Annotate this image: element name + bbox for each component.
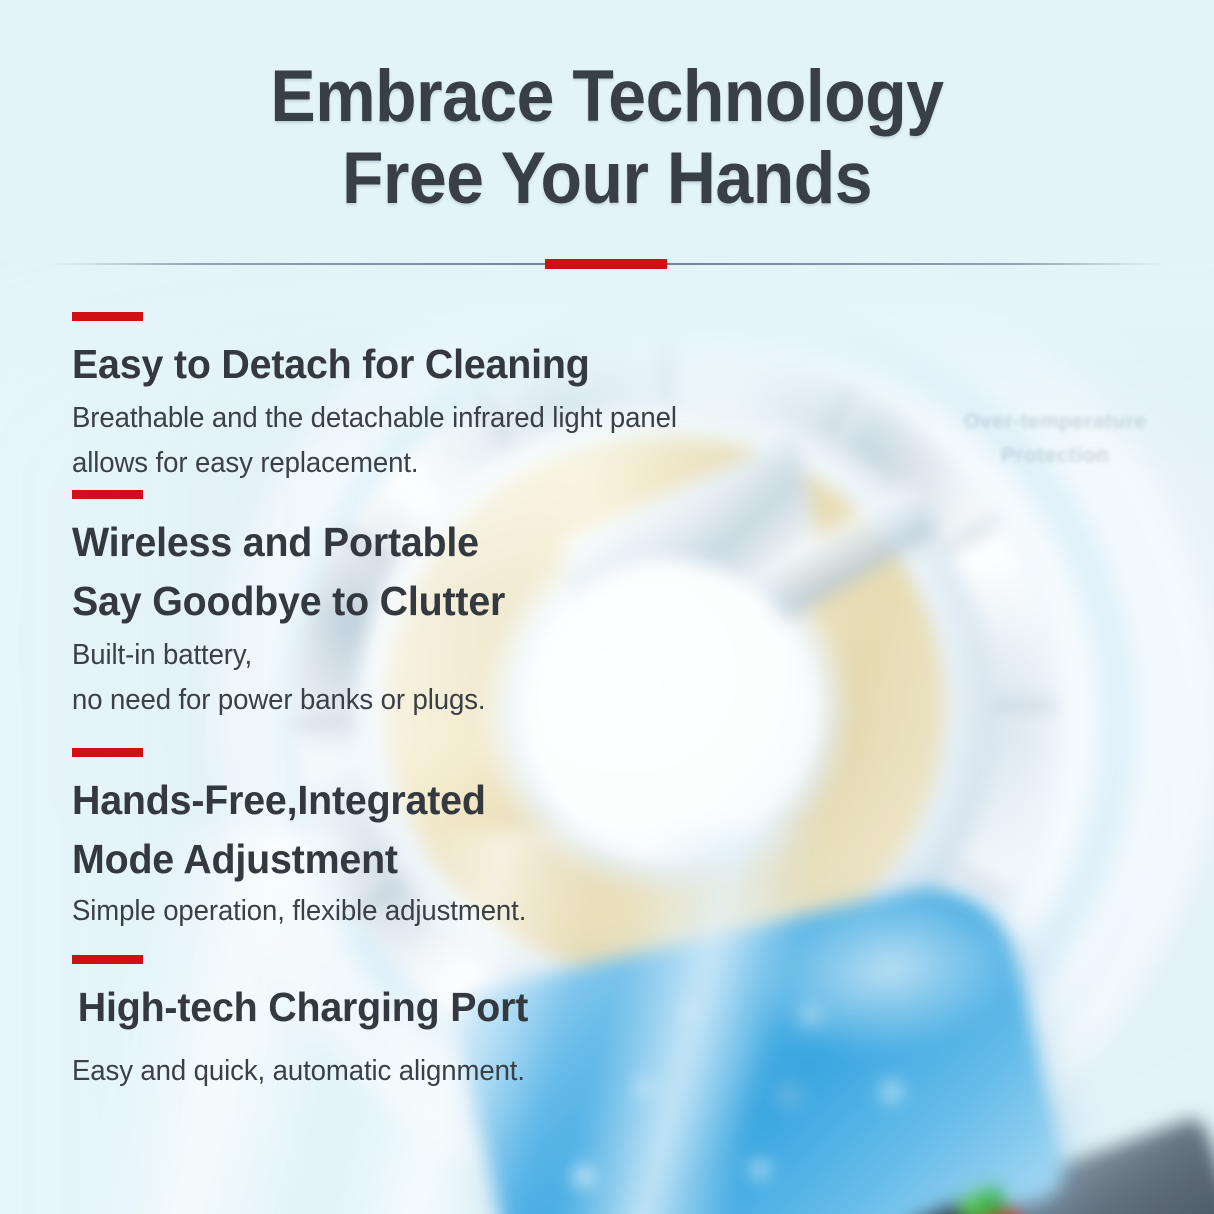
- feature-body-line: allows for easy replacement.: [72, 443, 794, 484]
- feature-body-line: Easy and quick, automatic alignment.: [72, 1051, 794, 1092]
- feature-accent-bar: [72, 312, 143, 321]
- feature-accent-bar: [72, 748, 143, 757]
- feature-body-line: no need for power banks or plugs.: [72, 680, 794, 721]
- feature-accent-bar: [72, 955, 143, 964]
- feature-body-line: Breathable and the detachable infrared l…: [72, 398, 794, 439]
- feature-body-line: Simple operation, flexible adjustment.: [72, 891, 794, 932]
- feature-heading: Mode Adjustment: [72, 830, 802, 889]
- feature-accent-bar: [72, 490, 143, 499]
- feature-body-line: Built-in battery,: [72, 635, 794, 676]
- page-title: Embrace Technology Free Your Hands: [0, 56, 1214, 220]
- divider-red-accent: [545, 259, 667, 269]
- feature-heading: Wireless and Portable: [72, 513, 802, 572]
- feature-block: High-tech Charging Port Easy and quick, …: [72, 955, 832, 1092]
- title-line-1: Embrace Technology: [42, 56, 1171, 138]
- title-line-2: Free Your Hands: [42, 138, 1171, 220]
- feature-heading: Say Goodbye to Clutter: [72, 572, 802, 631]
- feature-block: Easy to Detach for Cleaning Breathable a…: [72, 312, 832, 484]
- feature-block: Wireless and Portable Say Goodbye to Clu…: [72, 490, 832, 721]
- product-feature-poster: Over-temperature Protection Embrace Tech…: [0, 0, 1214, 1214]
- feature-heading: Hands-Free,Integrated: [72, 771, 802, 830]
- title-divider: [50, 262, 1164, 266]
- feature-heading: High-tech Charging Port: [72, 978, 802, 1037]
- feature-heading: Easy to Detach for Cleaning: [72, 335, 802, 394]
- feature-block: Hands-Free,Integrated Mode Adjustment Si…: [72, 748, 832, 932]
- poster-content: Embrace Technology Free Your Hands Easy …: [0, 0, 1214, 1214]
